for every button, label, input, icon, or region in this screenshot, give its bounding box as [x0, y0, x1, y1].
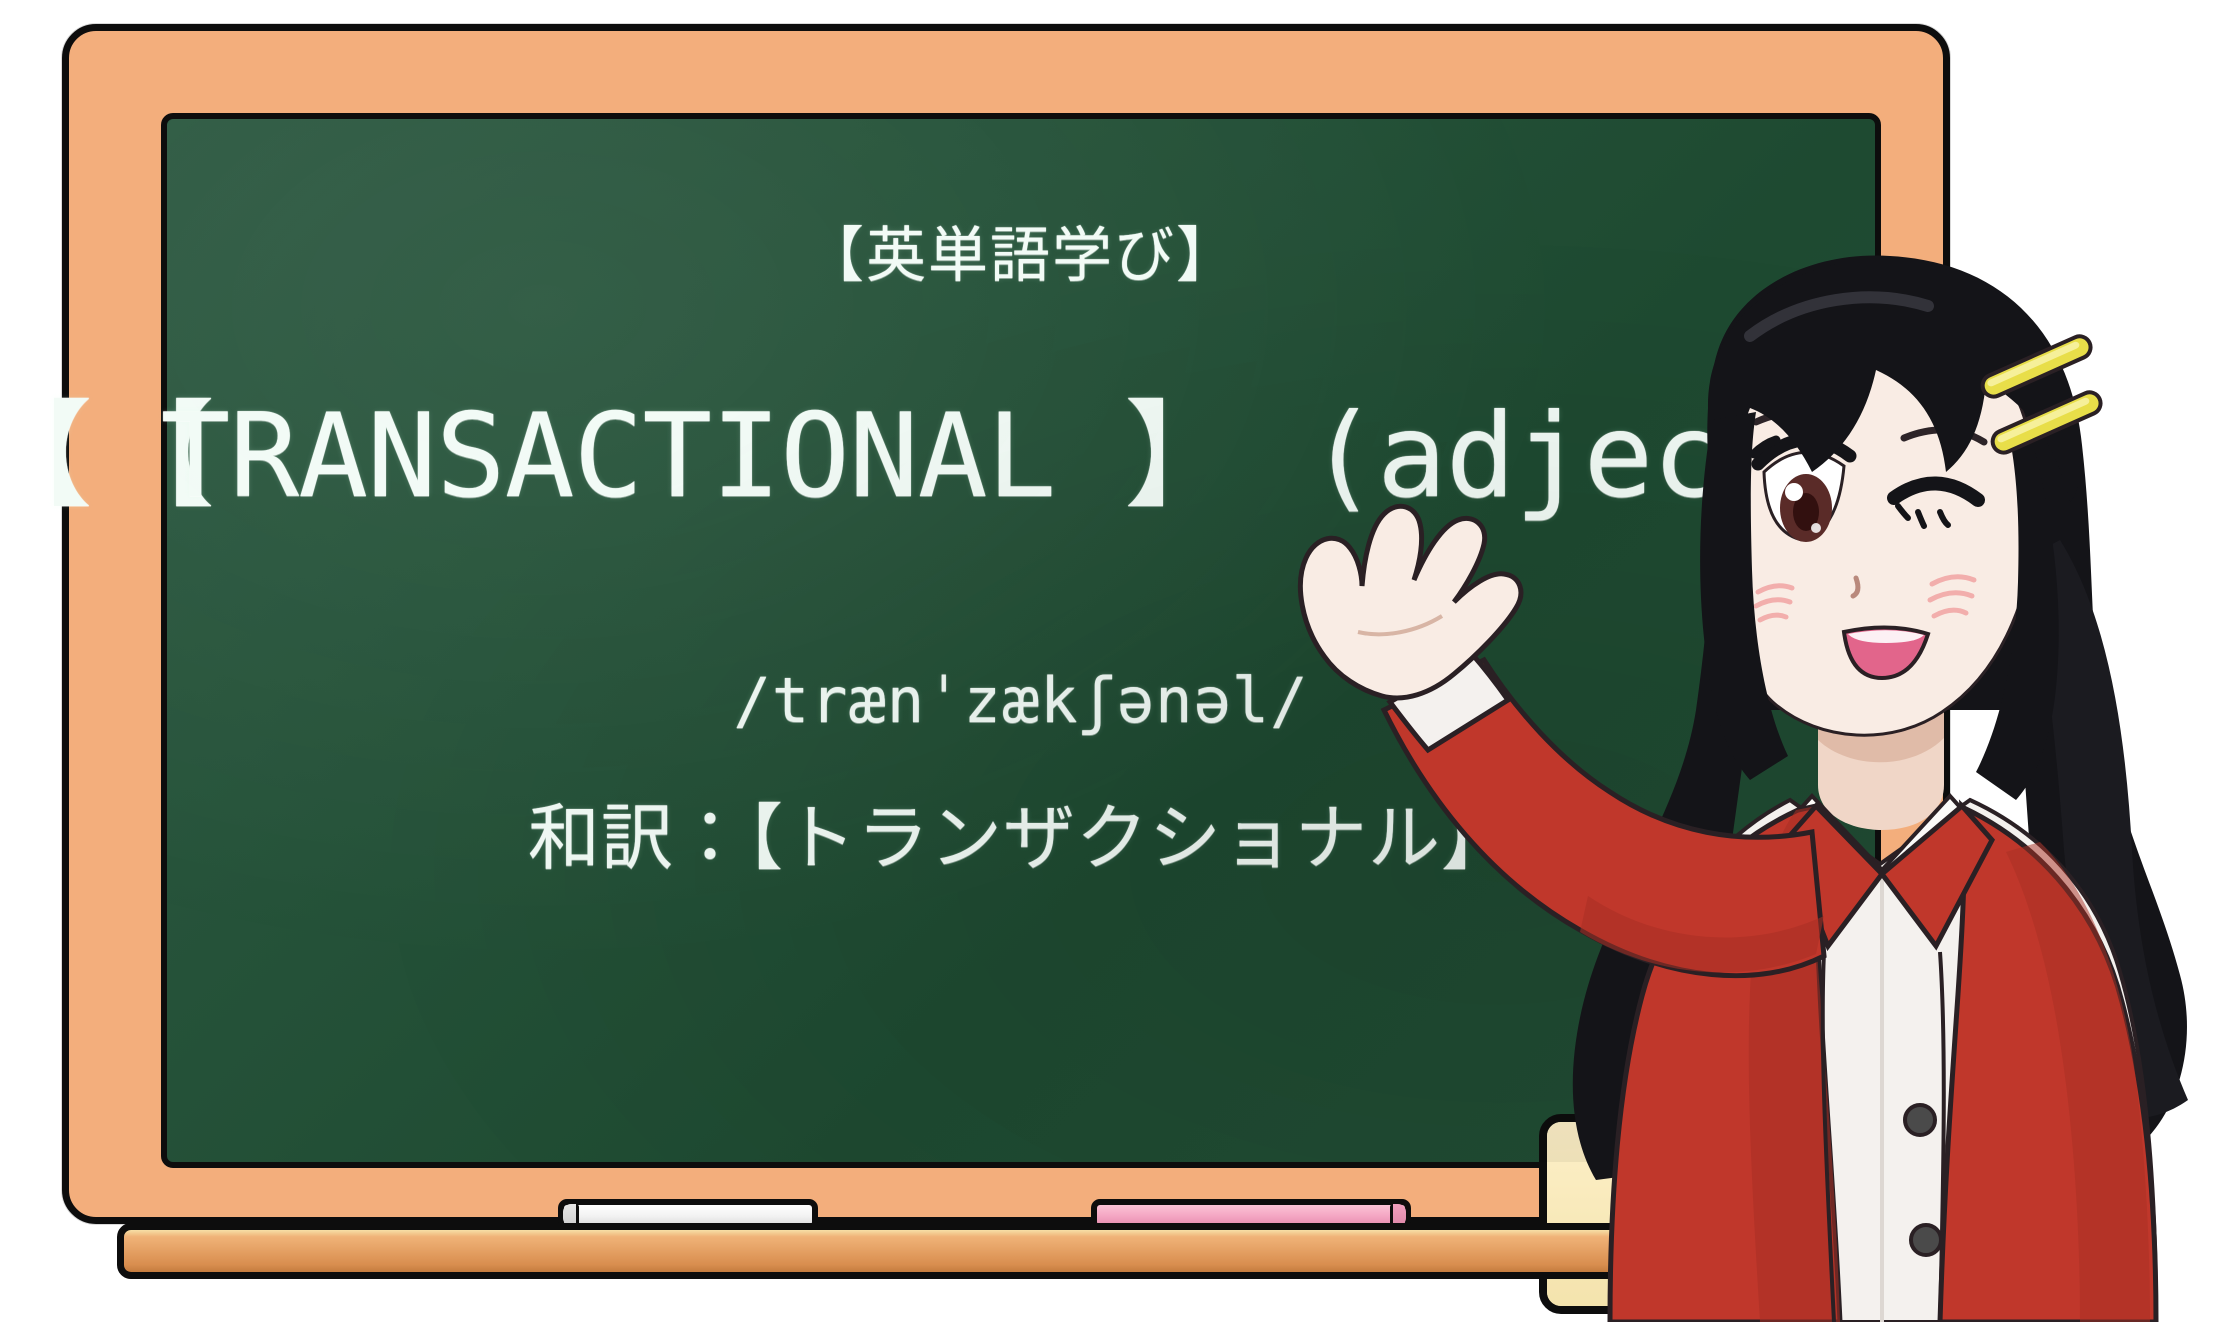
japanese-translation: 和訳：【トランザクショナル】 — [167, 779, 1875, 884]
vocabulary-word-line: 【 TRANSACTIONAL 】 (adjective) — [0, 399, 2065, 515]
ipa-pronunciation: /trænˈzækʃənəl/ — [167, 664, 1875, 737]
blackboard-frame: 【 【英単語学び】 【 TRANSACTIONAL 】 (adjective) … — [62, 24, 1950, 1224]
hair-strand-right — [2026, 540, 2188, 1118]
blackboard-surface: 【 【英単語学び】 【 TRANSACTIONAL 】 (adjective) … — [161, 113, 1881, 1168]
chalk-tray-ledge — [117, 1223, 2032, 1279]
chalkboard-eraser — [1539, 1114, 1889, 1314]
board-title: 【英単語学び】 — [167, 207, 1875, 294]
screenshot-stage: 【 【英単語学び】 【 TRANSACTIONAL 】 (adjective) … — [0, 0, 2218, 1322]
